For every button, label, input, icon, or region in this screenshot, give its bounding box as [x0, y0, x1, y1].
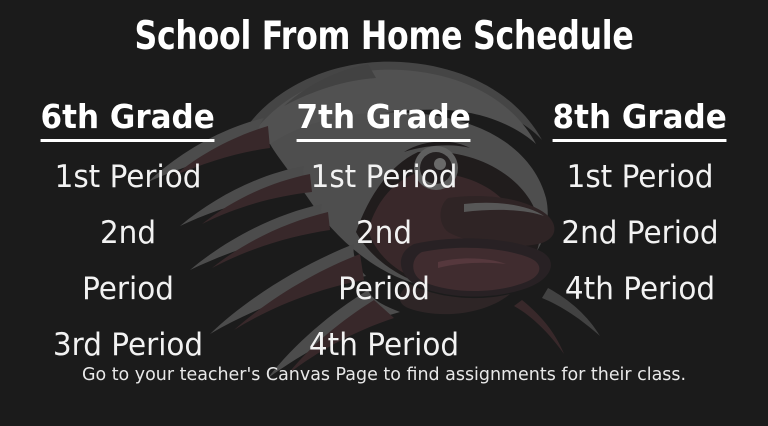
period-row: 2nd Period [71, 205, 185, 317]
column-header-6th-grade: 6th Grade [41, 98, 215, 142]
period-row: 2nd Period [518, 205, 761, 261]
schedule-slide: School From Home Schedule 6th Grade 1st … [0, 0, 768, 426]
grade-column-6th: 6th Grade 1st Period 2nd Period 3rd Peri… [0, 98, 256, 373]
slide-content: School From Home Schedule 6th Grade 1st … [0, 0, 768, 426]
period-row: 1st Period [262, 149, 505, 205]
period-row: 4th Period [518, 261, 761, 317]
period-row: 1st Period [518, 149, 761, 205]
period-list-6th: 1st Period 2nd Period 3rd Period [0, 149, 256, 373]
grade-column-7th: 7th Grade 1st Period 2nd Period 4th Peri… [256, 98, 512, 373]
period-list-7th: 1st Period 2nd Period 4th Period [256, 149, 512, 373]
period-row: 2nd Period [327, 205, 441, 317]
period-list-8th: 1st Period 2nd Period 4th Period [512, 149, 768, 317]
column-header-7th-grade: 7th Grade [297, 98, 471, 142]
schedule-columns: 6th Grade 1st Period 2nd Period 3rd Peri… [0, 98, 768, 373]
period-row: 1st Period [6, 149, 249, 205]
page-title: School From Home Schedule [38, 14, 729, 60]
grade-column-8th: 8th Grade 1st Period 2nd Period 4th Peri… [512, 98, 768, 317]
footer-instruction: Go to your teacher's Canvas Page to find… [12, 363, 757, 387]
column-header-8th-grade: 8th Grade [553, 98, 727, 142]
